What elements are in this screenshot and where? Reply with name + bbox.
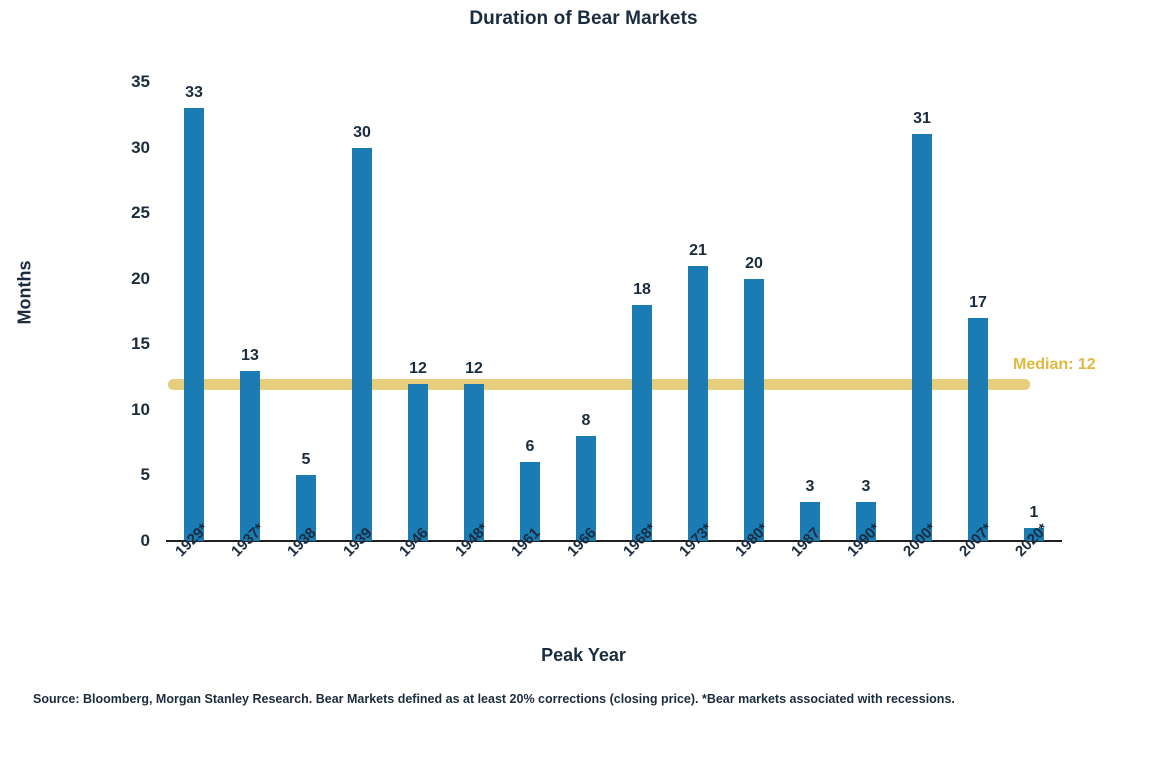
page-title: Duration of Bear Markets (0, 8, 1167, 30)
bar[interactable] (968, 318, 988, 541)
bar[interactable] (688, 266, 708, 541)
bar[interactable] (352, 148, 372, 541)
bar-value-label: 18 (614, 281, 670, 299)
y-tick-label: 10 (110, 400, 150, 420)
bar-value-label: 5 (278, 451, 334, 469)
bar-value-label: 12 (446, 360, 502, 378)
bar-value-label: 33 (166, 84, 222, 102)
bar-value-label: 6 (502, 438, 558, 456)
bar-group: 31 (894, 60, 950, 541)
y-tick-label: 15 (110, 334, 150, 354)
bar-value-label: 21 (670, 242, 726, 260)
bar-group: 12 (390, 60, 446, 541)
bar-value-label: 13 (222, 347, 278, 365)
bar-group: 21 (670, 60, 726, 541)
bar-group: 6 (502, 60, 558, 541)
bar-value-label: 31 (894, 110, 950, 128)
bar-group: 1 (1006, 60, 1062, 541)
bar[interactable] (184, 108, 204, 541)
bar-value-label: 8 (558, 412, 614, 430)
bar-group: 30 (334, 60, 390, 541)
y-tick-label: 5 (110, 465, 150, 485)
bar-value-label: 12 (390, 360, 446, 378)
y-tick-label: 0 (110, 531, 150, 551)
bar-value-label: 3 (838, 478, 894, 496)
bar-group: 33 (166, 60, 222, 541)
y-tick-label: 35 (110, 72, 150, 92)
bar-group: 13 (222, 60, 278, 541)
bar-value-label: 3 (782, 478, 838, 496)
bar-group: 17 (950, 60, 1006, 541)
bar[interactable] (240, 371, 260, 541)
chart-page: Duration of Bear Markets 05101520253035 … (0, 0, 1167, 759)
y-axis-title: Months (15, 223, 36, 363)
bar-group: 12 (446, 60, 502, 541)
bar-group: 3 (782, 60, 838, 541)
bar[interactable] (632, 305, 652, 541)
y-tick-label: 20 (110, 269, 150, 289)
bar-value-label: 20 (726, 255, 782, 273)
bar-value-label: 17 (950, 294, 1006, 312)
x-axis-title: Peak Year (0, 645, 1167, 666)
bar-group: 20 (726, 60, 782, 541)
bar-group: 8 (558, 60, 614, 541)
source-note: Source: Bloomberg, Morgan Stanley Resear… (33, 690, 1133, 708)
bar-value-label: 30 (334, 124, 390, 142)
y-tick-label: 30 (110, 138, 150, 158)
bar-group: 18 (614, 60, 670, 541)
y-tick-label: 25 (110, 203, 150, 223)
bar-group: 3 (838, 60, 894, 541)
bar-group: 5 (278, 60, 334, 541)
bar[interactable] (744, 279, 764, 541)
bar[interactable] (912, 134, 932, 541)
